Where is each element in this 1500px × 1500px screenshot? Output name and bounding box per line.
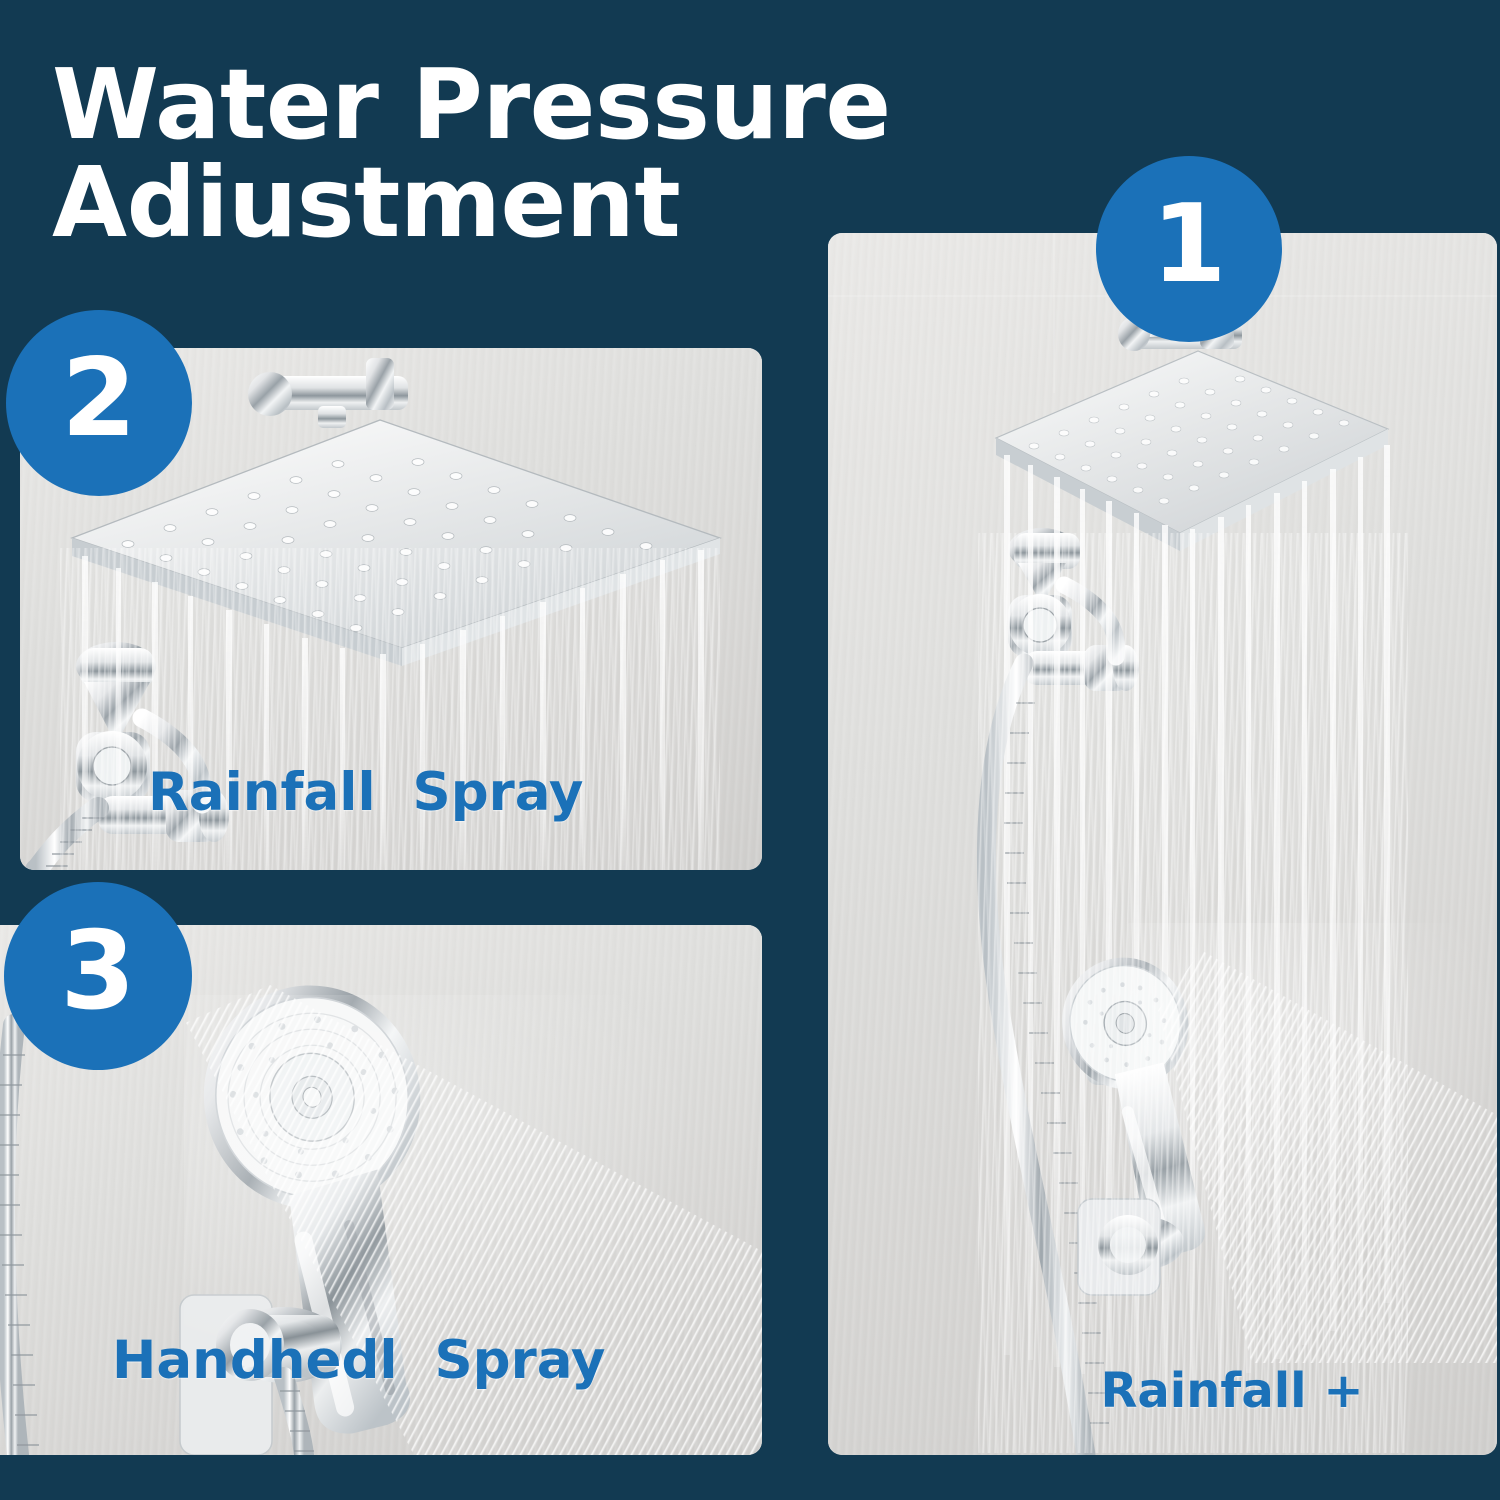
infographic-canvas: Water Pressure Adiustment xyxy=(0,0,1500,1500)
step-badge-2[interactable]: 2 xyxy=(6,310,192,496)
step-badge-1-number: 1 xyxy=(1151,191,1226,299)
page-title-line-1: Water Pressure xyxy=(52,58,932,152)
caption-line-1: Rainfall + xyxy=(1022,1362,1442,1421)
caption-rainfall: Rainfall Spray xyxy=(148,762,583,823)
step-badge-1[interactable]: 1 xyxy=(1096,156,1282,342)
step-badge-3[interactable]: 3 xyxy=(4,882,192,1070)
caption-handheld: Handhedl Spray xyxy=(112,1330,605,1391)
page-title: Water Pressure Adiustment xyxy=(52,58,932,250)
step-badge-3-number: 3 xyxy=(60,918,135,1026)
caption-rainfall-plus-handheld: Rainfall + Handhedl Spray xyxy=(1022,1245,1442,1500)
step-badge-2-number: 2 xyxy=(61,345,136,453)
page-title-line-2: Adiustment xyxy=(52,156,932,250)
